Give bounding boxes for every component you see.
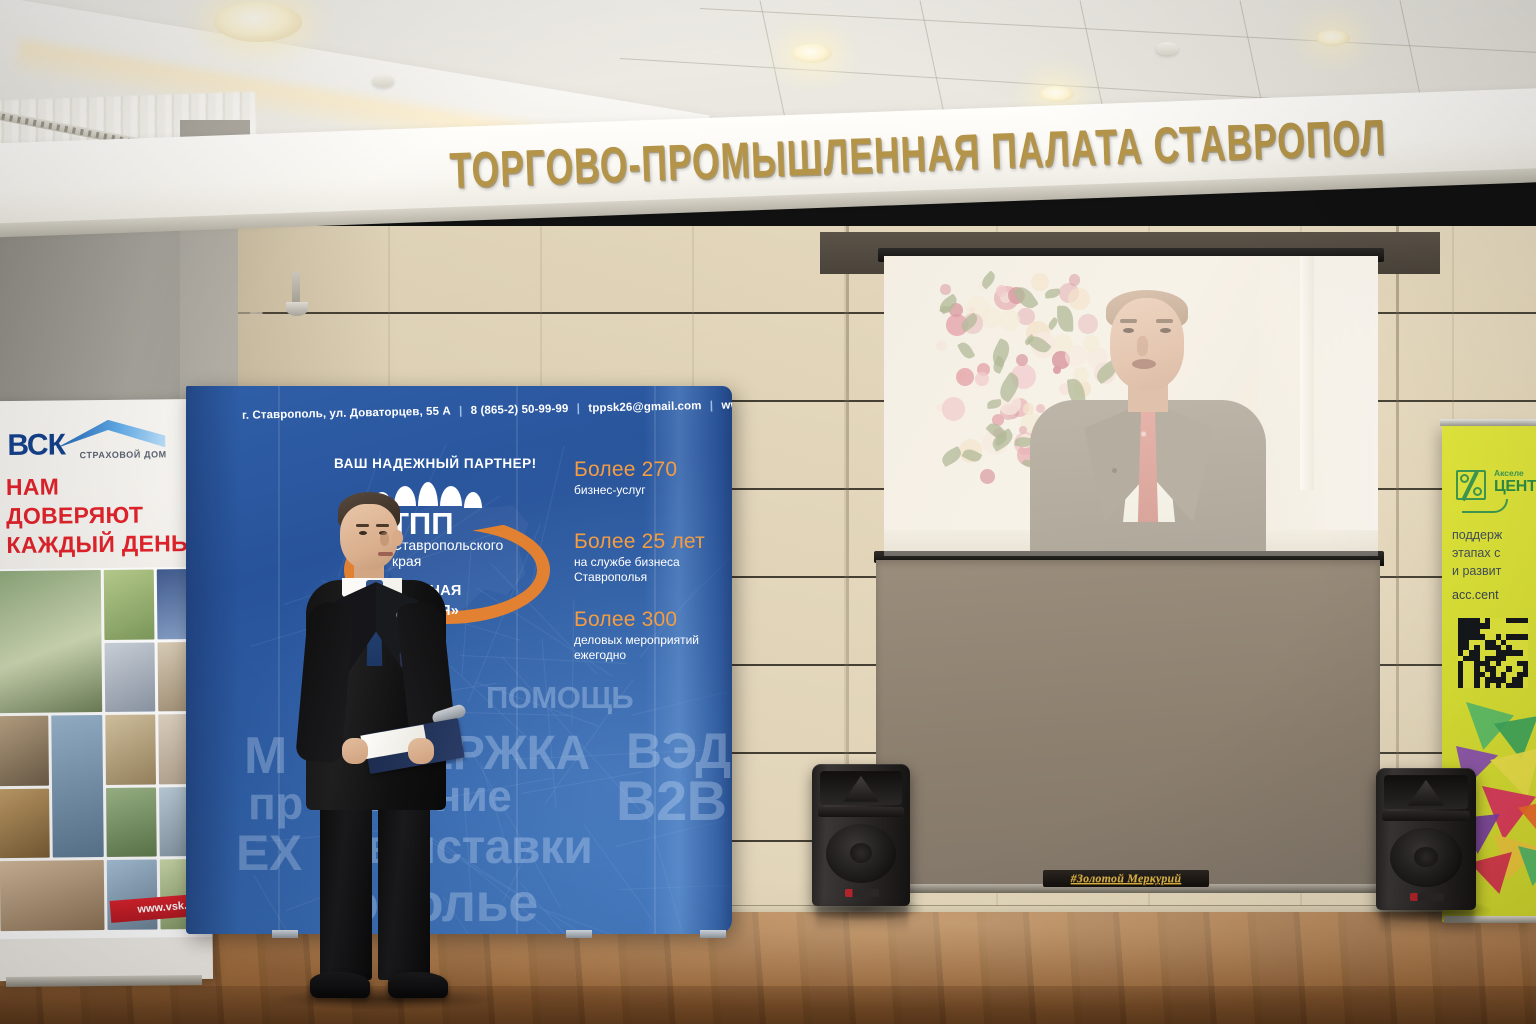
tpp-stat-label-line: на службе бизнеса: [574, 555, 705, 570]
qr-cell: [1474, 683, 1479, 688]
qr-cell: [1506, 666, 1511, 671]
qr-code-icon: [1458, 618, 1528, 688]
tpp-stat-item: Более 25 летна службе бизнесаСтаврополья: [574, 530, 705, 585]
acc-logo: Акселе ЦЕНТ: [1456, 466, 1536, 508]
downlight-icon: [792, 44, 832, 63]
smoke-detector-icon: [1156, 42, 1178, 55]
presenter-ear: [392, 530, 403, 546]
artwork-triangle: [1470, 852, 1512, 894]
presenter-hand-left: [342, 738, 368, 764]
downlight-icon: [1040, 86, 1074, 102]
tpp-phone: 8 (865-2) 50-99-99: [471, 403, 569, 417]
blind-rail-nub: [56, 124, 60, 130]
collage-photo: [105, 715, 156, 785]
collage-photo: [1, 937, 51, 938]
blind-rail-nub: [1, 114, 5, 120]
presenter-head: [340, 504, 398, 570]
acc-body-line1: поддерж: [1452, 526, 1536, 544]
banner-left-shade: [186, 386, 240, 934]
blind-rail-nub: [72, 127, 76, 133]
downlight-icon: [1316, 30, 1350, 46]
vsk-tagline-line2: КАЖДЫЙ ДЕНЬ: [6, 528, 202, 559]
tpp-slogan: ВАШ НАДЕЖНЫЙ ПАРТНЕР!: [334, 456, 537, 471]
qr-cell: [1523, 672, 1528, 677]
presenter-leg-right: [378, 792, 430, 980]
presenter-eye-left: [359, 531, 367, 535]
blind-rail-nub: [40, 121, 44, 127]
tpp-banner-foot: [566, 930, 592, 938]
tpp-stat-label: бизнес-услуг: [574, 483, 677, 498]
qr-cell: [1496, 683, 1501, 688]
collage-photo: [0, 860, 104, 931]
speaker-horn: [820, 771, 902, 805]
tpp-stat-number: Более 270: [574, 458, 677, 481]
vsk-logo: ВСК СТРАХОВОЙ ДОМ: [7, 415, 178, 467]
downlight-icon: [214, 2, 302, 42]
collage-photo: [106, 787, 157, 857]
presenter: [292, 492, 474, 1012]
qr-cell: [1496, 661, 1501, 666]
speaker-woofer: [826, 824, 897, 884]
brown-rollup-panel: [876, 560, 1380, 890]
blind-rail-nub: [64, 126, 68, 132]
presenter-nose: [380, 532, 389, 546]
loudspeaker-icon[interactable]: [1376, 768, 1476, 910]
presenter-brow-right: [376, 524, 389, 527]
vsk-banner-stand: [6, 975, 202, 987]
acc-logo-circle-icon: [1473, 487, 1482, 496]
presenter-hand-right: [408, 738, 434, 764]
collage-photo: [0, 788, 50, 858]
projection-screen: [884, 256, 1378, 556]
presenter-shoe-left: [310, 972, 370, 998]
acc-logo-tail-icon: [1462, 499, 1508, 513]
presenter-leg-left: [320, 792, 372, 980]
qr-cell: [1458, 683, 1463, 688]
tpp-website: www.tppsk.ru: [721, 398, 732, 412]
mesh-line: [541, 638, 556, 807]
tpp-stat-item: Более 270бизнес-услуг: [574, 458, 677, 498]
vsk-tagline: НАМ ДОВЕРЯЮТ КАЖДЫЙ ДЕНЬ: [6, 471, 203, 559]
qr-cell: [1485, 683, 1490, 688]
vsk-photo-collage: [0, 567, 213, 939]
qr-cell: [1517, 650, 1522, 655]
speaker-brand-badge: [845, 889, 878, 898]
tpp-banner-foot: [700, 930, 726, 938]
separator: |: [710, 400, 714, 412]
collage-photo: [104, 642, 155, 712]
vsk-wordmark: ВСК: [7, 428, 65, 463]
qr-cell: [1517, 683, 1522, 688]
speaker-floor-reflection: [1380, 910, 1474, 936]
speaker-horn: [1384, 775, 1468, 809]
blind-rail-nub: [25, 118, 29, 124]
speaker-midrange-slot: [818, 807, 904, 817]
acc-body-text: поддерж этапах с и развит: [1452, 526, 1536, 580]
acc-logo-main-label: ЦЕНТ: [1494, 478, 1536, 496]
qr-cell: [1501, 656, 1506, 661]
collage-photo: [54, 933, 104, 934]
acc-logo-circle-icon: [1460, 474, 1469, 483]
acc-body-line3: и развит: [1452, 562, 1536, 580]
qr-cell: [1485, 623, 1490, 628]
tpp-stat-item: Более 300деловых мероприятийежегодно: [574, 608, 699, 663]
tpp-stat-label-line: деловых мероприятий: [574, 633, 699, 648]
tpp-stat-label: деловых мероприятийежегодно: [574, 633, 699, 663]
vsk-logo-subtitle: СТРАХОВОЙ ДОМ: [79, 449, 166, 460]
vsk-swoosh-icon: [55, 419, 165, 448]
vsk-banner: ВСК СТРАХОВОЙ ДОМ НАМ ДОВЕРЯЮТ КАЖДЫЙ ДЕ…: [0, 399, 213, 981]
presenter-shoe-right: [388, 972, 448, 998]
collage-photo: [1, 934, 51, 935]
blind-rail-nub: [33, 120, 37, 126]
projection-washout-overlay: [884, 256, 1378, 556]
screen-surface: [884, 256, 1378, 556]
tpp-stat-label-line: ежегодно: [574, 648, 699, 663]
hashtag-label: #Золотой Меркурий: [1071, 871, 1182, 886]
acc-body-line2: этапах с: [1452, 544, 1536, 562]
speaker-midrange-slot: [1382, 811, 1470, 821]
tpp-watermark-word: B2B: [616, 768, 727, 833]
collage-photo: [103, 569, 154, 639]
conference-hall-photo: ТОРГОВО-ПРОМЫШЛЕННАЯ ПАЛАТА СТАВРОПОЛ: [0, 0, 1536, 1024]
speaker-brand-badge: [1410, 893, 1444, 902]
presenter-mouth: [378, 552, 393, 556]
presenter-brow-left: [356, 524, 369, 527]
camera-dome-icon: [286, 302, 308, 316]
tpp-email: tppsk26@gmail.com: [588, 400, 701, 414]
tpp-stat-label: на службе бизнесаСтаврополья: [574, 555, 705, 585]
separator: |: [459, 405, 463, 417]
blind-rail-nub: [17, 117, 21, 123]
loudspeaker-icon[interactable]: [812, 764, 910, 906]
blind-rail-nub: [80, 129, 84, 135]
speaker-floor-reflection: [816, 906, 908, 932]
speaker-woofer: [1390, 828, 1462, 888]
acc-logo-top-label: Акселе: [1494, 468, 1524, 478]
blind-rail-nub: [9, 115, 13, 121]
vsk-tagline-line1: НАМ ДОВЕРЯЮТ: [6, 471, 203, 531]
presenter-legs: [320, 792, 436, 980]
qr-cell: [1523, 618, 1528, 623]
separator: |: [577, 403, 581, 415]
acc-banner-rail: [1440, 419, 1536, 426]
collage-photo: [0, 570, 102, 713]
acc-url-label: acc.cent: [1452, 588, 1499, 602]
collage-photo: [0, 716, 49, 786]
collage-photo: [54, 936, 104, 937]
blind-rail-nub: [88, 130, 92, 136]
qr-cell: [1523, 634, 1528, 639]
tpp-stat-label-line: бизнес-услуг: [574, 483, 677, 498]
blind-rail-nub: [48, 123, 52, 129]
tpp-stat-number: Более 25 лет: [574, 530, 705, 553]
status-badge: #Золотой Меркурий: [1043, 870, 1209, 887]
tpp-stat-label-line: Ставрополья: [574, 570, 705, 585]
blind-rail-nub: [95, 132, 99, 138]
collage-photo: [52, 715, 104, 858]
tpp-stat-number: Более 300: [574, 608, 699, 631]
floor-foreground-shade: [0, 986, 1536, 1024]
smoke-detector-icon: [372, 74, 394, 87]
tpp-watermark-word: ПОМОЩЬ: [486, 680, 633, 716]
